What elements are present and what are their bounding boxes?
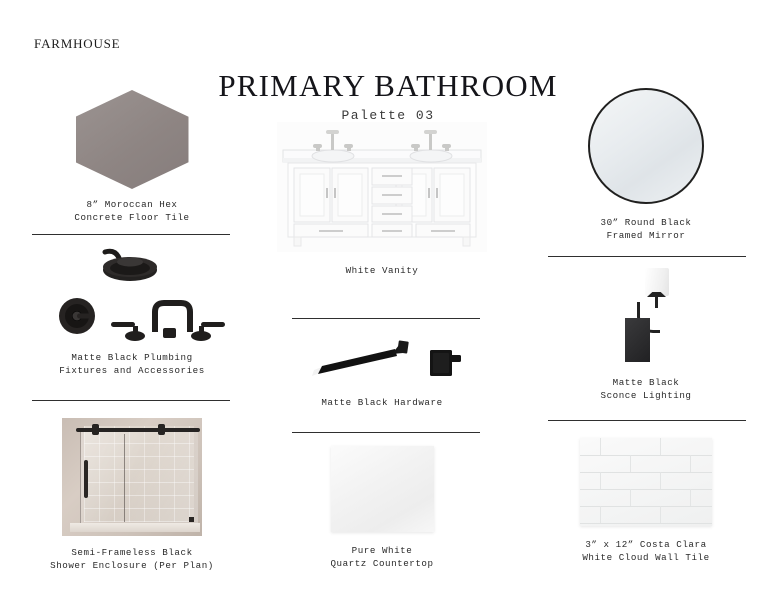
board-item-shower-enclosure[interactable]: Semi-Frameless Black Shower Enclosure (P… <box>18 418 246 572</box>
board-item-round-mirror[interactable]: 30” Round Black Framed Mirror <box>532 88 760 242</box>
board-item-sconce-lighting[interactable]: Matte Black Sconce Lighting <box>532 272 760 402</box>
tile-row <box>580 472 712 490</box>
divider-center-1 <box>292 318 480 319</box>
board-item-plumbing-fixtures[interactable]: Matte Black Plumbing Fixtures and Access… <box>18 248 246 377</box>
shower-roller-right <box>158 424 165 435</box>
matte-black-hardware-art <box>266 336 498 386</box>
tile-row <box>580 506 712 524</box>
brand-label: FARMHOUSE <box>34 36 120 52</box>
plumbing-svg <box>37 248 227 343</box>
wall-sconce-icon <box>611 272 681 368</box>
mood-board: FARMHOUSE PRIMARY BATHROOM Palette 03 8”… <box>0 0 776 600</box>
round-mirror-art <box>532 88 760 204</box>
shower-glass-divider <box>124 434 125 522</box>
board-item-wall-tile[interactable]: 3” x 12” Costa Clara White Cloud Wall Ti… <box>532 438 760 564</box>
caption-white-vanity: White Vanity <box>266 264 498 277</box>
caption-quartz-countertop: Pure White Quartz Countertop <box>266 544 498 570</box>
shower-roller-left <box>92 424 99 435</box>
sconce-lighting-art <box>532 272 760 368</box>
tile-row <box>580 438 712 456</box>
divider-center-2 <box>292 432 480 433</box>
tile-row <box>580 489 712 507</box>
plumbing-group-icon <box>37 248 227 343</box>
wall-tile-art <box>532 438 760 526</box>
caption-shower-enclosure: Semi-Frameless Black Shower Enclosure (P… <box>18 546 246 572</box>
hardware-group-icon <box>300 336 465 386</box>
tile-row <box>580 455 712 473</box>
shower-hardware-dot <box>189 517 194 522</box>
board-item-hex-floor-tile[interactable]: 8” Moroccan Hex Concrete Floor Tile <box>18 90 246 224</box>
caption-round-mirror: 30” Round Black Framed Mirror <box>532 216 760 242</box>
divider-right-2 <box>548 420 746 421</box>
board-item-white-vanity[interactable]: White Vanity <box>266 122 498 277</box>
vanity-svg <box>277 122 487 252</box>
round-mirror-icon <box>588 88 704 204</box>
shower-enclosure-photo <box>62 418 202 536</box>
caption-plumbing-fixtures: Matte Black Plumbing Fixtures and Access… <box>18 351 246 377</box>
shower-enclosure-art <box>18 418 246 536</box>
caption-hex-floor-tile: 8” Moroccan Hex Concrete Floor Tile <box>18 198 246 224</box>
shower-glass-panel <box>80 432 198 526</box>
plumbing-fixtures-art <box>18 248 246 343</box>
divider-left-2 <box>32 400 230 401</box>
divider-left-1 <box>32 234 230 235</box>
double-vanity-photo <box>277 122 487 252</box>
board-item-quartz-countertop[interactable]: Pure White Quartz Countertop <box>266 446 498 570</box>
white-vanity-art <box>266 122 498 252</box>
caption-matte-black-hardware: Matte Black Hardware <box>266 396 498 409</box>
caption-wall-tile: 3” x 12” Costa Clara White Cloud Wall Ti… <box>532 538 760 564</box>
board-item-matte-black-hardware[interactable]: Matte Black Hardware <box>266 336 498 409</box>
hardware-svg <box>300 336 465 386</box>
quartz-countertop-art <box>266 446 498 532</box>
caption-sconce-lighting: Matte Black Sconce Lighting <box>532 376 760 402</box>
sconce-backplate <box>625 318 650 362</box>
divider-right-1 <box>548 256 746 257</box>
shower-pan <box>70 523 200 532</box>
hexagon-tile-art <box>18 90 246 189</box>
subway-tile-icon <box>580 438 712 526</box>
sconce-shade <box>645 268 669 296</box>
quartz-swatch-icon <box>331 446 434 532</box>
shower-door-handle <box>84 460 88 498</box>
hexagon-tile-icon <box>76 90 189 189</box>
